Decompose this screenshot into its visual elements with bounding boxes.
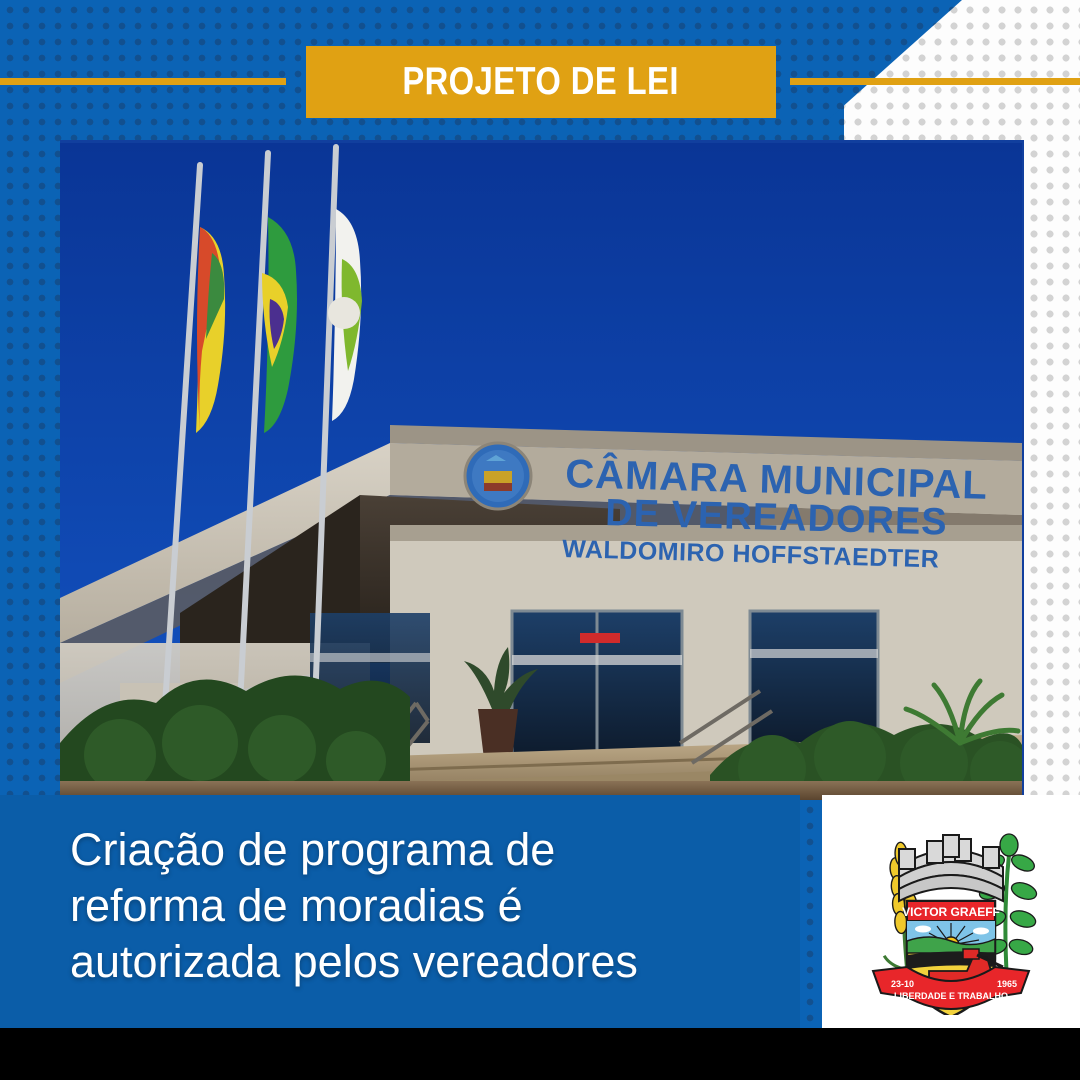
header-banner: PROJETO DE LEI xyxy=(306,46,776,118)
bottom-black-bar xyxy=(0,1028,1080,1080)
ribbon-motto: LIBERDADE E TRABALHO xyxy=(894,991,1008,1001)
gold-accent-bar-left xyxy=(0,78,286,85)
ribbon-date-left: 23-10 xyxy=(891,979,914,989)
poster-canvas: PROJETO DE LEI xyxy=(0,0,1080,1080)
building-photo: CÂMARA MUNICIPAL DE VEREADORES WALDOMIRO… xyxy=(60,143,1022,800)
headline-line-2: reforma de moradias é xyxy=(70,878,760,934)
headline-text: Criação de programa de reforma de moradi… xyxy=(70,822,760,989)
headline-line-3: autorizada pelos vereadores xyxy=(70,934,760,990)
ribbon-date-right: 1965 xyxy=(997,979,1017,989)
coat-of-arms-logo-box: VICTOR GRAEFF xyxy=(822,795,1080,1028)
header-banner-label: PROJETO DE LEI xyxy=(403,60,680,104)
headline-line-1: Criação de programa de xyxy=(70,822,760,878)
gold-accent-bar-right xyxy=(790,78,1080,85)
coat-of-arms-municipality-label: VICTOR GRAEFF xyxy=(902,905,1000,919)
victor-graeff-coat-of-arms-icon: VICTOR GRAEFF xyxy=(851,809,1051,1015)
mural-crown-icon xyxy=(899,835,1003,901)
